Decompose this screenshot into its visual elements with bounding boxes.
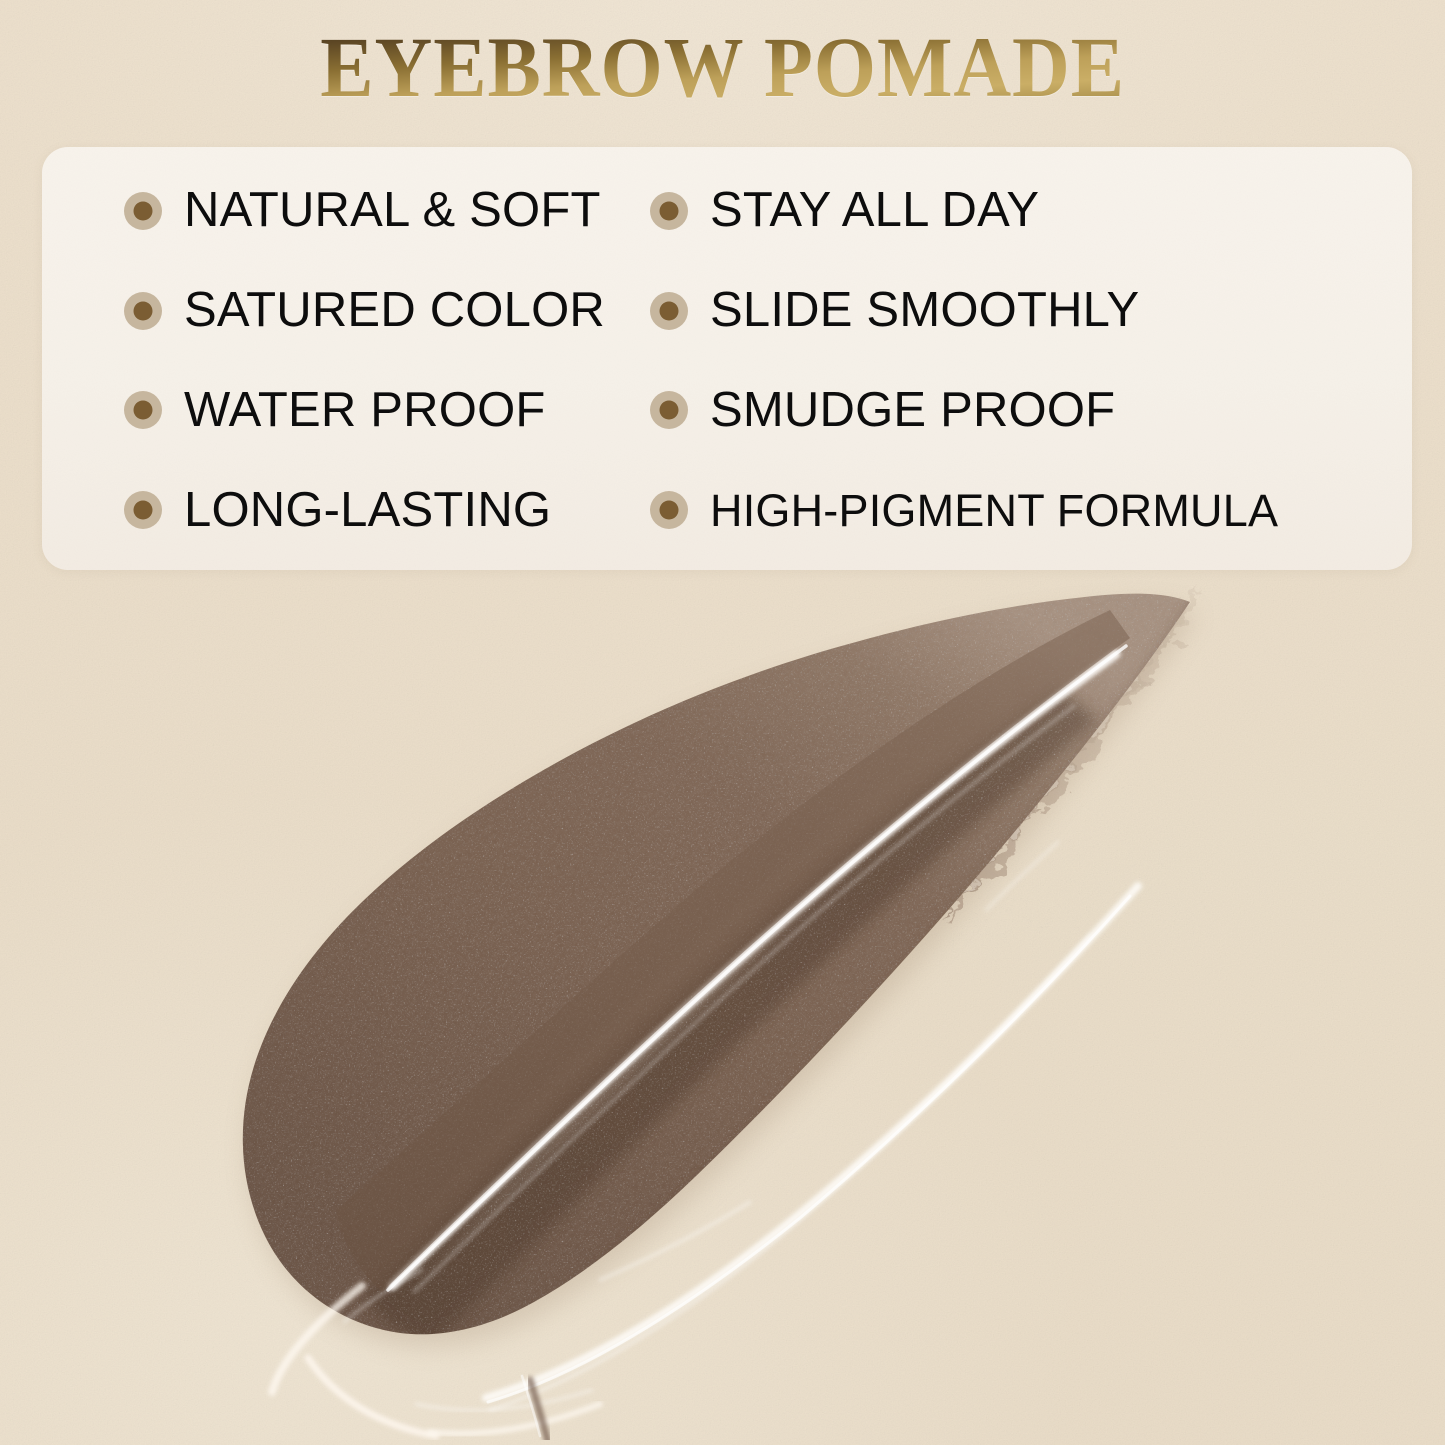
bullet-dot-icon bbox=[124, 192, 162, 230]
feature-label: LONG-LASTING bbox=[184, 486, 551, 535]
feature-label: SMUDGE PROOF bbox=[710, 386, 1115, 435]
feature-label: HIGH-PIGMENT FORMULA bbox=[710, 488, 1278, 533]
bullet-dot-icon bbox=[124, 491, 162, 529]
product-graphic: EYEBROW POMADE NATURAL & SOFT STAY ALL D… bbox=[0, 0, 1445, 1445]
feature-label: SATURED COLOR bbox=[184, 286, 605, 335]
feature-card: NATURAL & SOFT STAY ALL DAY SATURED COLO… bbox=[42, 147, 1412, 570]
feature-item-natural-soft: NATURAL & SOFT bbox=[42, 186, 650, 235]
feature-label: STAY ALL DAY bbox=[710, 186, 1039, 235]
feature-item-slide-smoothly: SLIDE SMOOTHLY bbox=[650, 286, 1412, 335]
feature-label: WATER PROOF bbox=[184, 386, 546, 435]
feature-item-high-pigment-formula: HIGH-PIGMENT FORMULA bbox=[650, 488, 1412, 533]
feature-item-stay-all-day: STAY ALL DAY bbox=[650, 186, 1412, 235]
bullet-dot-icon bbox=[650, 491, 688, 529]
page-title: EYEBROW POMADE bbox=[320, 24, 1125, 110]
feature-label: NATURAL & SOFT bbox=[184, 186, 601, 235]
bullet-dot-icon bbox=[650, 292, 688, 330]
feature-label: SLIDE SMOOTHLY bbox=[710, 286, 1139, 335]
bullet-dot-icon bbox=[124, 292, 162, 330]
bullet-dot-icon bbox=[124, 391, 162, 429]
product-swatch-area bbox=[0, 580, 1445, 1445]
pomade-swatch bbox=[130, 580, 1310, 1440]
feature-item-smudge-proof: SMUDGE PROOF bbox=[650, 386, 1412, 435]
swatch-body bbox=[130, 580, 1310, 1440]
bullet-dot-icon bbox=[650, 391, 688, 429]
feature-item-long-lasting: LONG-LASTING bbox=[42, 486, 650, 535]
feature-item-water-proof: WATER PROOF bbox=[42, 386, 650, 435]
feature-item-satured-color: SATURED COLOR bbox=[42, 286, 650, 335]
page-title-container: EYEBROW POMADE bbox=[0, 24, 1445, 110]
feature-list: NATURAL & SOFT STAY ALL DAY SATURED COLO… bbox=[42, 147, 1412, 570]
bullet-dot-icon bbox=[650, 192, 688, 230]
